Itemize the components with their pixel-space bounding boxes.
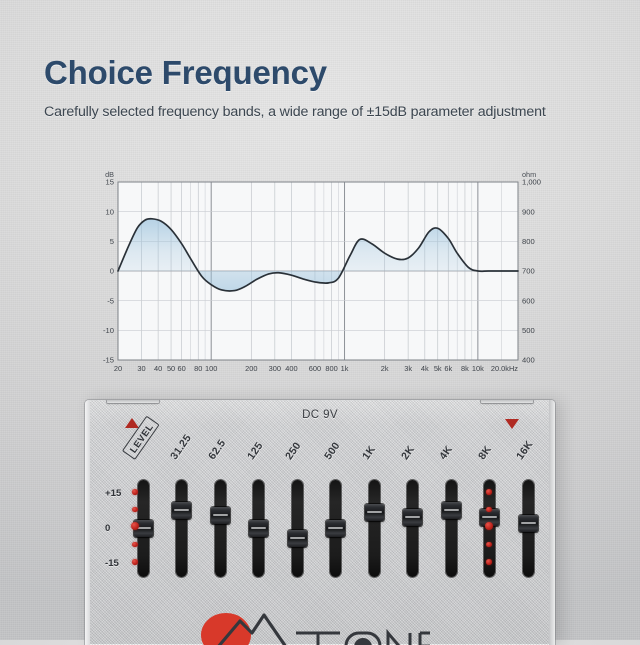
svg-text:20.0kHz: 20.0kHz bbox=[491, 364, 518, 373]
scale-label-0: 0 bbox=[105, 523, 110, 534]
band-label-2k: 2K bbox=[399, 444, 417, 462]
svg-text:200: 200 bbox=[245, 364, 257, 373]
band-label-16k: 16K bbox=[514, 439, 535, 462]
svg-text:6k: 6k bbox=[444, 364, 452, 373]
svg-text:40: 40 bbox=[154, 364, 162, 373]
svg-text:300: 300 bbox=[269, 364, 281, 373]
scale-label-minus15: -15 bbox=[105, 558, 119, 569]
svg-text:50: 50 bbox=[167, 364, 175, 373]
band-fader-knob-2k[interactable] bbox=[403, 509, 422, 526]
band-fader-slot-4k[interactable] bbox=[446, 480, 457, 577]
level-led-left-1 bbox=[132, 489, 138, 495]
frequency-response-plot: dB151050-5-10-15ohm1,0009008007006005004… bbox=[96, 168, 544, 378]
svg-text:700: 700 bbox=[522, 267, 535, 276]
svg-text:4k: 4k bbox=[421, 364, 429, 373]
band-label-8k: 8K bbox=[476, 444, 494, 462]
band-label-250: 250 bbox=[283, 440, 303, 462]
band-fader-slot-31-25[interactable] bbox=[176, 480, 187, 577]
band-fader-slot-2k[interactable] bbox=[407, 480, 418, 577]
level-led-left-2 bbox=[132, 507, 138, 513]
svg-text:400: 400 bbox=[285, 364, 297, 373]
level-led-right-4 bbox=[486, 542, 492, 548]
svg-text:20: 20 bbox=[114, 364, 122, 373]
band-fader-knob-62-5[interactable] bbox=[211, 507, 230, 524]
band-fader-slot-250[interactable] bbox=[292, 480, 303, 577]
header: Choice Frequency Carefully selected freq… bbox=[44, 56, 604, 120]
band-fader-knob-250[interactable] bbox=[288, 530, 307, 547]
svg-text:60: 60 bbox=[177, 364, 185, 373]
page-subtitle: Carefully selected frequency bands, a wi… bbox=[44, 104, 604, 120]
frequency-response-chart: dB151050-5-10-15ohm1,0009008007006005004… bbox=[96, 168, 544, 378]
band-fader-slot-500[interactable] bbox=[330, 480, 341, 577]
svg-text:1k: 1k bbox=[341, 364, 349, 373]
level-led-right-5 bbox=[486, 559, 492, 565]
brand-logo bbox=[200, 603, 430, 645]
svg-text:5: 5 bbox=[110, 237, 114, 246]
svg-text:-5: -5 bbox=[107, 296, 114, 305]
level-led-left-4 bbox=[132, 542, 138, 548]
band-label-125: 125 bbox=[245, 440, 265, 462]
band-fader-slot-1k[interactable] bbox=[369, 480, 380, 577]
svg-text:3k: 3k bbox=[404, 364, 412, 373]
svg-text:1,000: 1,000 bbox=[522, 178, 541, 187]
level-led-right-1 bbox=[486, 489, 492, 495]
svg-text:900: 900 bbox=[522, 207, 535, 216]
level-led-right-2 bbox=[486, 507, 492, 513]
svg-text:100: 100 bbox=[205, 364, 217, 373]
level-led-left-5 bbox=[132, 559, 138, 565]
page-title: Choice Frequency bbox=[44, 56, 604, 91]
pedal-right-edge bbox=[549, 400, 555, 645]
svg-text:8k: 8k bbox=[461, 364, 469, 373]
svg-text:80: 80 bbox=[194, 364, 202, 373]
svg-text:10k: 10k bbox=[472, 364, 484, 373]
output-jack[interactable] bbox=[481, 400, 533, 403]
band-label-31-25: 31.25 bbox=[168, 432, 194, 462]
svg-text:30: 30 bbox=[137, 364, 145, 373]
band-label-500: 500 bbox=[322, 440, 342, 462]
band-fader-slot-16k[interactable] bbox=[523, 480, 534, 577]
band-fader-slot-62-5[interactable] bbox=[215, 480, 226, 577]
svg-text:400: 400 bbox=[522, 356, 535, 365]
band-label-1k: 1K bbox=[360, 444, 378, 462]
svg-text:800: 800 bbox=[325, 364, 337, 373]
band-label-62-5: 62.5 bbox=[206, 437, 228, 462]
svg-text:15: 15 bbox=[106, 178, 114, 187]
svg-text:600: 600 bbox=[309, 364, 321, 373]
band-fader-knob-500[interactable] bbox=[326, 520, 345, 537]
svg-text:0: 0 bbox=[110, 267, 114, 276]
band-fader-knob-1k[interactable] bbox=[365, 504, 384, 521]
band-label-4k: 4K bbox=[437, 444, 455, 462]
power-label: DC 9V bbox=[85, 409, 555, 421]
svg-text:-15: -15 bbox=[103, 356, 114, 365]
svg-text:5k: 5k bbox=[434, 364, 442, 373]
band-fader-slot-125[interactable] bbox=[253, 480, 264, 577]
svg-text:800: 800 bbox=[522, 237, 535, 246]
svg-text:-10: -10 bbox=[103, 326, 114, 335]
level-fader-slot[interactable] bbox=[138, 480, 149, 577]
band-fader-knob-31-25[interactable] bbox=[172, 502, 191, 519]
band-fader-knob-16k[interactable] bbox=[519, 515, 538, 532]
eq-pedal-device: DC 9V LEVEL31.2562.51252505001K2K4K8K16K… bbox=[85, 400, 555, 645]
band-fader-knob-125[interactable] bbox=[249, 520, 268, 537]
svg-text:2k: 2k bbox=[381, 364, 389, 373]
svg-text:500: 500 bbox=[522, 326, 535, 335]
scale-label-plus15: +15 bbox=[105, 488, 121, 499]
pedal-left-edge bbox=[85, 400, 90, 645]
input-jack[interactable] bbox=[107, 400, 159, 403]
svg-text:10: 10 bbox=[106, 207, 114, 216]
svg-text:600: 600 bbox=[522, 296, 535, 305]
band-fader-knob-4k[interactable] bbox=[442, 502, 461, 519]
